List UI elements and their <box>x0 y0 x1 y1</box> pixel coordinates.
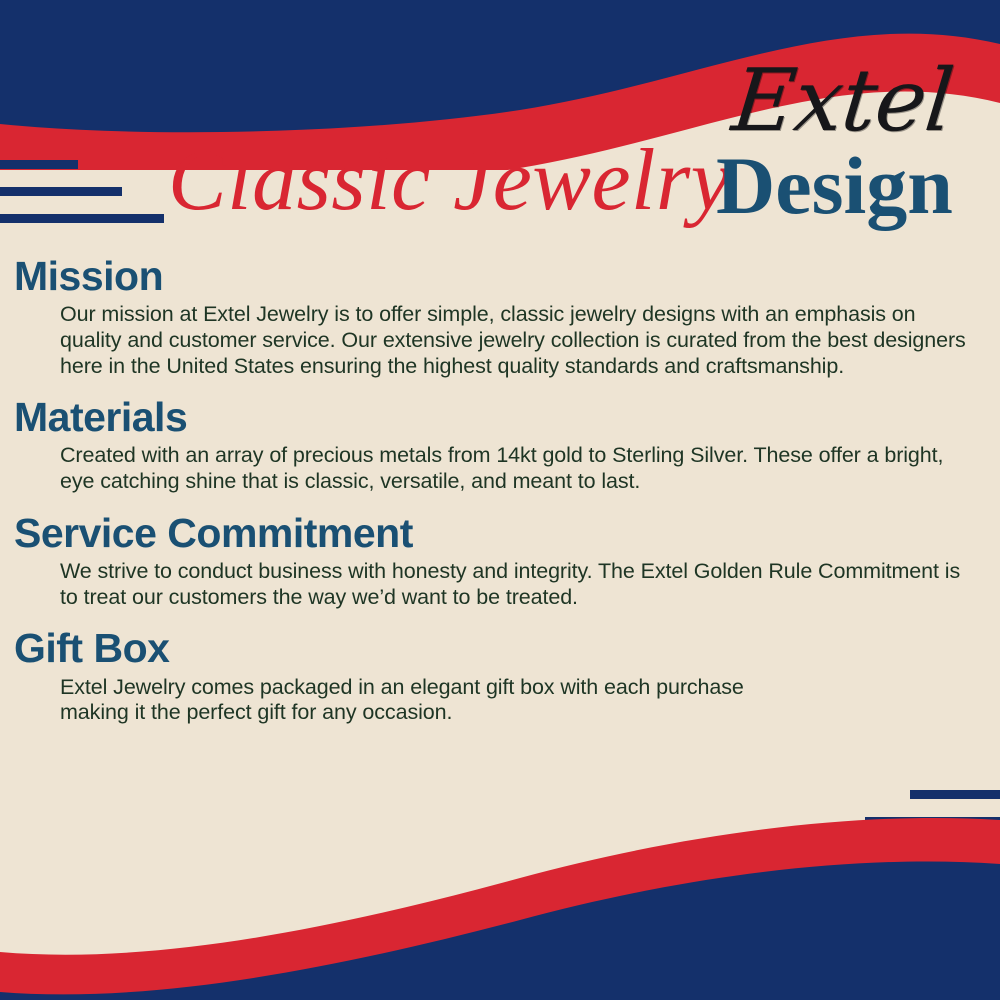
section-heading-gift-box: Gift Box <box>14 624 1000 672</box>
headline-classic-jewelry: Classic Jewelry <box>168 135 730 227</box>
section-heading-materials: Materials <box>14 393 1000 441</box>
section-body-materials: Created with an array of precious metals… <box>60 443 970 494</box>
masthead: Extel Classic Jewelry Design <box>0 40 1000 250</box>
accent-rule-short <box>910 790 1000 799</box>
bottom-wave-navy-band <box>0 861 1000 1000</box>
section-mission: Mission Our mission at Extel Jewelry is … <box>0 252 1000 379</box>
section-body-mission: Our mission at Extel Jewelry is to offer… <box>60 302 970 379</box>
accent-rule-long <box>822 844 1000 853</box>
section-materials: Materials Created with an array of preci… <box>0 393 1000 495</box>
section-service-commitment: Service Commitment We strive to conduct … <box>0 509 1000 611</box>
section-body-service-commitment: We strive to conduct business with hones… <box>60 559 970 610</box>
headline-row: Classic Jewelry Design <box>0 135 1000 245</box>
headline-design: Design <box>716 143 953 229</box>
content-sections: Mission Our mission at Extel Jewelry is … <box>0 252 1000 732</box>
section-heading-mission: Mission <box>14 252 1000 300</box>
poster-canvas: Extel Classic Jewelry Design Mission Our… <box>0 0 1000 1000</box>
section-heading-service-commitment: Service Commitment <box>14 509 1000 557</box>
brand-script-logo: Extel <box>728 58 956 144</box>
right-accent-rules <box>822 790 1000 871</box>
section-body-gift-box: Extel Jewelry comes packaged in an elega… <box>60 675 760 726</box>
section-gift-box: Gift Box Extel Jewelry comes packaged in… <box>0 624 1000 726</box>
accent-rule-medium <box>865 817 1000 826</box>
